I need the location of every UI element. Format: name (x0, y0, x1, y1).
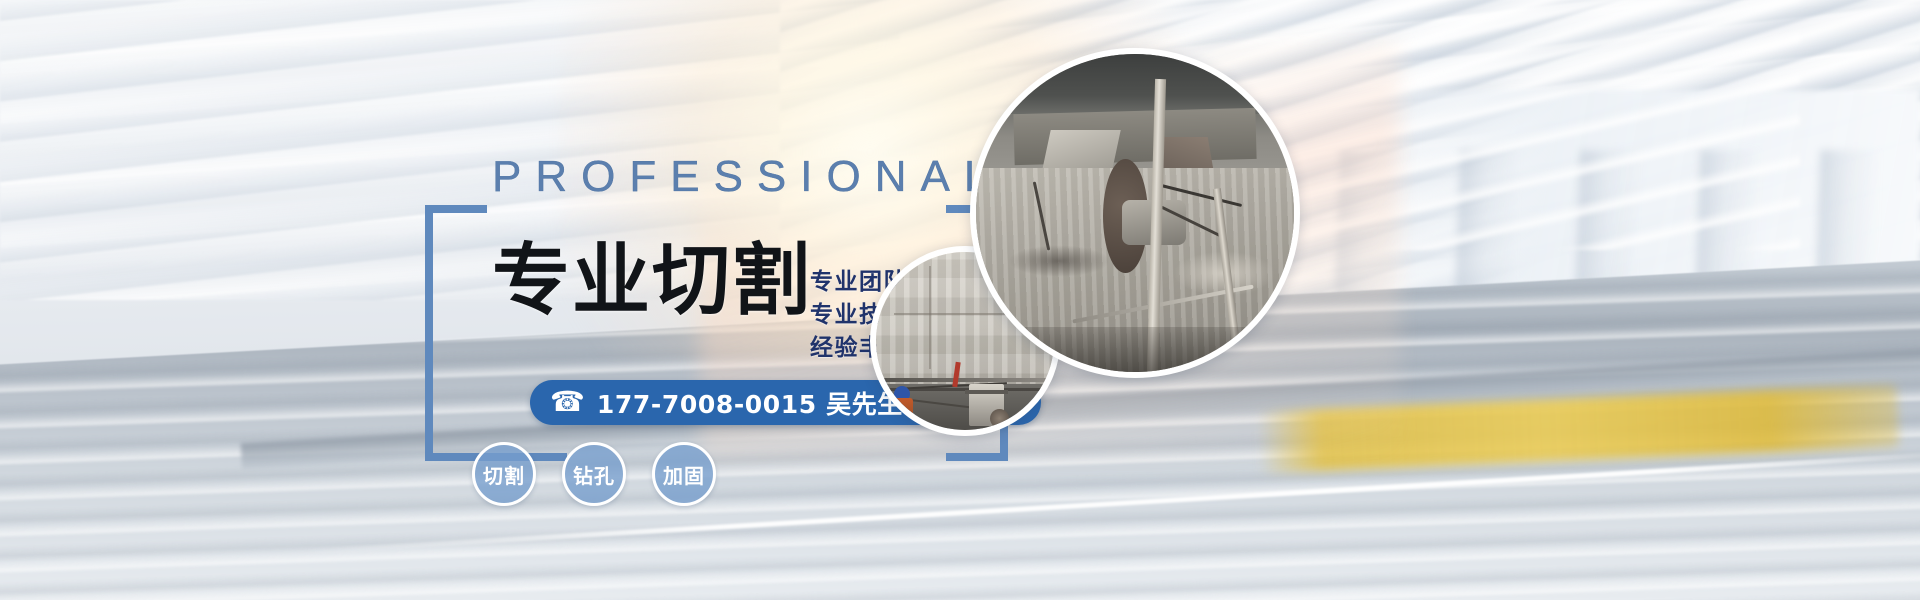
photo-inner (976, 54, 1294, 372)
photo-wall-seam (929, 266, 931, 369)
service-circle-reinforce[interactable]: 加固 (652, 442, 716, 506)
photo-worker-body (892, 398, 913, 426)
service-circle-cutting[interactable]: 切割 (472, 442, 536, 506)
photo-rig-bar (965, 390, 1008, 394)
headline-chinese: 专业切割 (492, 218, 812, 330)
photo-shadow-bottom (976, 327, 1294, 372)
headline-english: PROFESSIONAL (492, 152, 1002, 202)
promo-banner: PROFESSIONAL 专业切割 专业团队 专业技术 经验丰富 ☎ 177-7… (0, 0, 1920, 600)
photo-debris-shadow (1008, 245, 1110, 277)
wall-saw-machine-photo (970, 48, 1300, 378)
service-circle-list: 切割 钻孔 加固 (472, 442, 716, 506)
photo-shadow-top (976, 54, 1294, 114)
telephone-icon: ☎ (550, 388, 585, 416)
photo-track-rail (883, 378, 1047, 382)
service-circle-drilling[interactable]: 钻孔 (562, 442, 626, 506)
